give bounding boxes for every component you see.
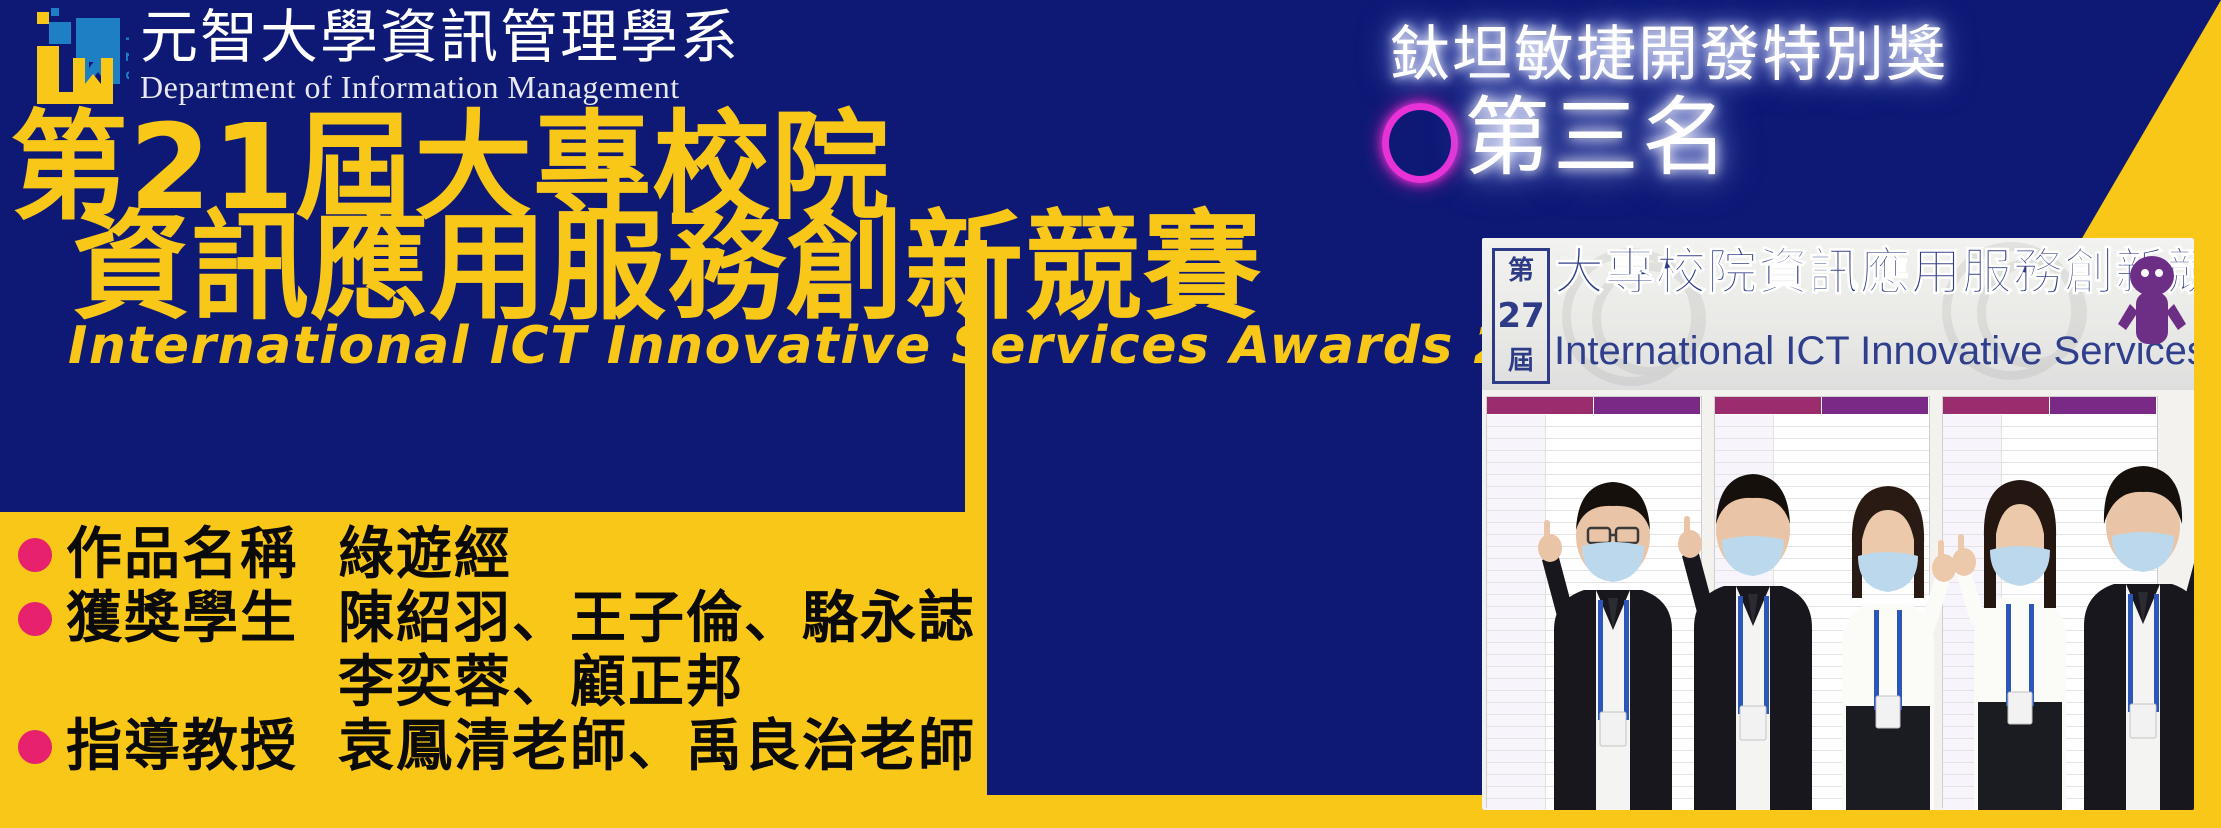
edition-label-first: 第 bbox=[1495, 258, 1547, 284]
detail-label-students: 獲獎學生 bbox=[66, 588, 316, 650]
svg-text:Z: Z bbox=[122, 52, 129, 61]
person-3 bbox=[1812, 448, 1962, 810]
award-rank-group: 第三名 bbox=[1382, 92, 1731, 184]
person-5 bbox=[2068, 434, 2194, 810]
award-poster: Y Z U 元智大學資訊管理學系 Department of Informati… bbox=[0, 0, 2221, 828]
detail-row-students-cont: 李奕蓉、顧正邦 bbox=[18, 652, 968, 714]
yzu-logo-mark: Y Z U bbox=[27, 6, 129, 106]
competition-title-english: International ICT Innovative Services Aw… bbox=[68, 318, 1624, 374]
person-2 bbox=[1678, 438, 1828, 810]
detail-value-students: 陳紹羽、王子倫、駱永誌 bbox=[316, 588, 976, 650]
edition-label-second: 屆 bbox=[1495, 348, 1547, 374]
svg-text:Y: Y bbox=[122, 33, 129, 44]
detail-row-students: 獲獎學生 陳紹羽、王子倫、駱永誌 bbox=[18, 588, 968, 650]
person-1 bbox=[1538, 450, 1688, 810]
detail-value-advisors: 袁鳳清老師、禹良治老師 bbox=[316, 716, 976, 778]
bullet-dot-icon bbox=[18, 730, 52, 764]
banner-title-chinese: 大專校院資訊應用服務創新競賽 bbox=[1554, 244, 2194, 300]
bullet-dot-icon bbox=[18, 538, 52, 572]
detail-label-project: 作品名稱 bbox=[66, 524, 316, 586]
mascot-icon bbox=[2112, 246, 2190, 386]
special-award-title: 鈦坦敏捷開發特別獎 bbox=[1390, 22, 1948, 88]
banner-title-english: International ICT Innovative Services Aw… bbox=[1554, 328, 2194, 374]
award-rank-text: 第三名 bbox=[1464, 92, 1731, 184]
detail-row-project: 作品名稱 綠遊經 bbox=[18, 524, 968, 586]
photo-backdrop-banner: 第 27 屆 大專校院資訊應用服務創新競賽 International ICT … bbox=[1482, 238, 2194, 390]
detail-label-advisors: 指導教授 bbox=[66, 716, 316, 778]
bullet-dot-icon bbox=[18, 602, 52, 636]
award-details-list: 作品名稱 綠遊經 獲獎學生 陳紹羽、王子倫、駱永誌 李奕蓉、顧正邦 指導教授 袁… bbox=[18, 524, 968, 780]
circle-marker-icon bbox=[1382, 103, 1458, 183]
detail-row-advisors: 指導教授 袁鳳清老師、禹良治老師 bbox=[18, 716, 968, 778]
detail-value-students-cont: 李奕蓉、顧正邦 bbox=[316, 652, 744, 714]
edition-number: 27 bbox=[1495, 299, 1547, 333]
department-name-chinese: 元智大學資訊管理學系 bbox=[140, 8, 740, 66]
yzu-logo: Y Z U bbox=[27, 6, 129, 106]
detail-value-project: 綠遊經 bbox=[316, 524, 512, 586]
competition-title-line2: 資訊應用服務創新競賽 bbox=[72, 208, 1262, 326]
poster-wall bbox=[1482, 390, 2194, 810]
svg-text:U: U bbox=[122, 70, 129, 81]
group-photo: 第 27 屆 大專校院資訊應用服務創新競賽 International ICT … bbox=[1482, 238, 2194, 810]
edition-badge: 第 27 屆 bbox=[1492, 248, 1550, 384]
